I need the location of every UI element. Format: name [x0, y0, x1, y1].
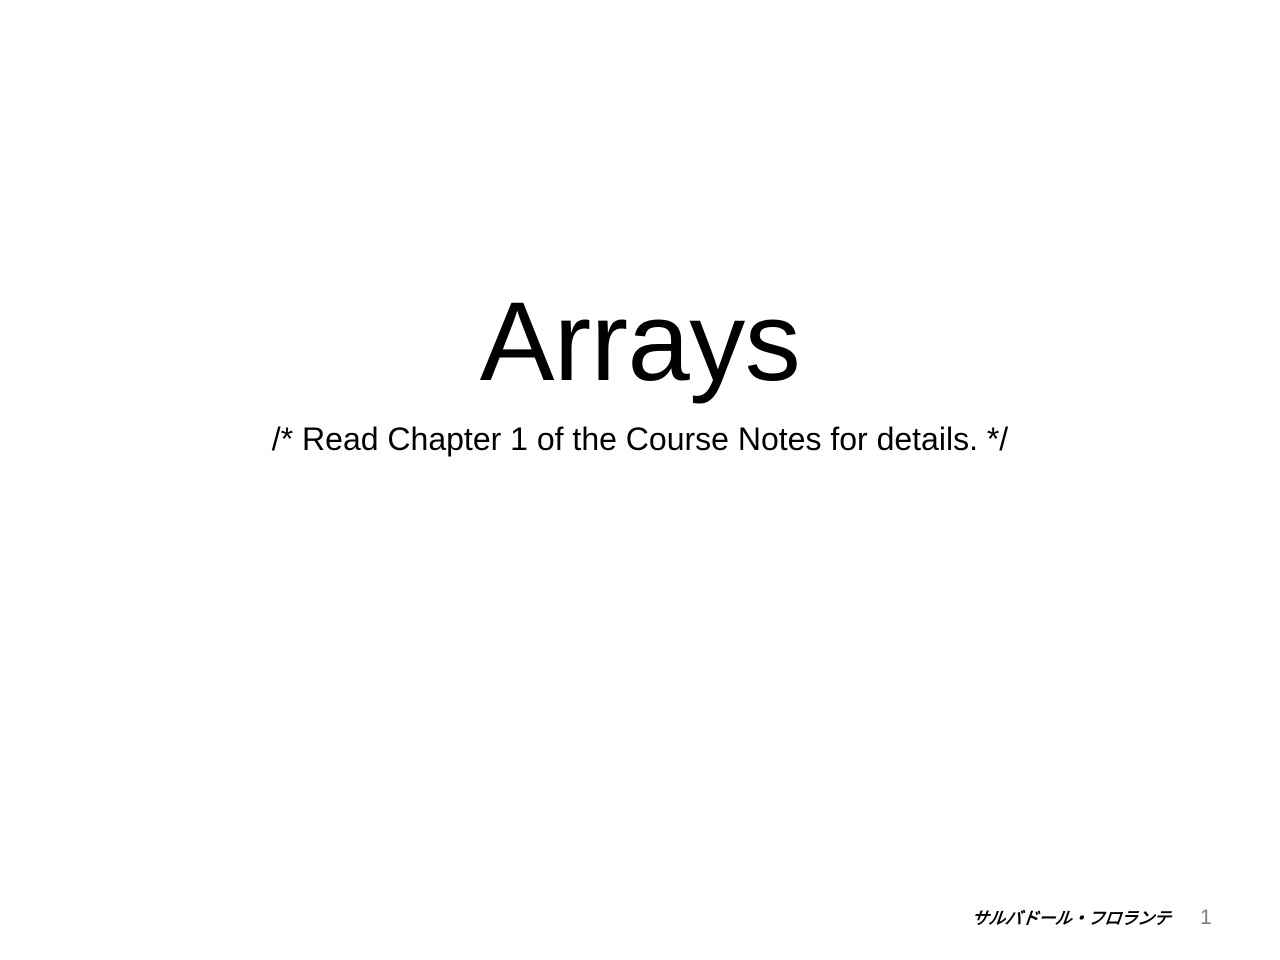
footer-author-name: サルバドール・フロランテ [971, 904, 1172, 929]
slide-footer: サルバドール・フロランテ 1 [0, 904, 1280, 938]
slide-canvas: Arrays /* Read Chapter 1 of the Course N… [0, 0, 1280, 960]
slide-subtitle: /* Read Chapter 1 of the Course Notes fo… [0, 420, 1280, 458]
title-placeholder: Arrays [0, 282, 1280, 403]
subtitle-placeholder: /* Read Chapter 1 of the Course Notes fo… [0, 420, 1280, 458]
page-title: Arrays [0, 282, 1280, 403]
page-number: 1 [1200, 906, 1214, 930]
